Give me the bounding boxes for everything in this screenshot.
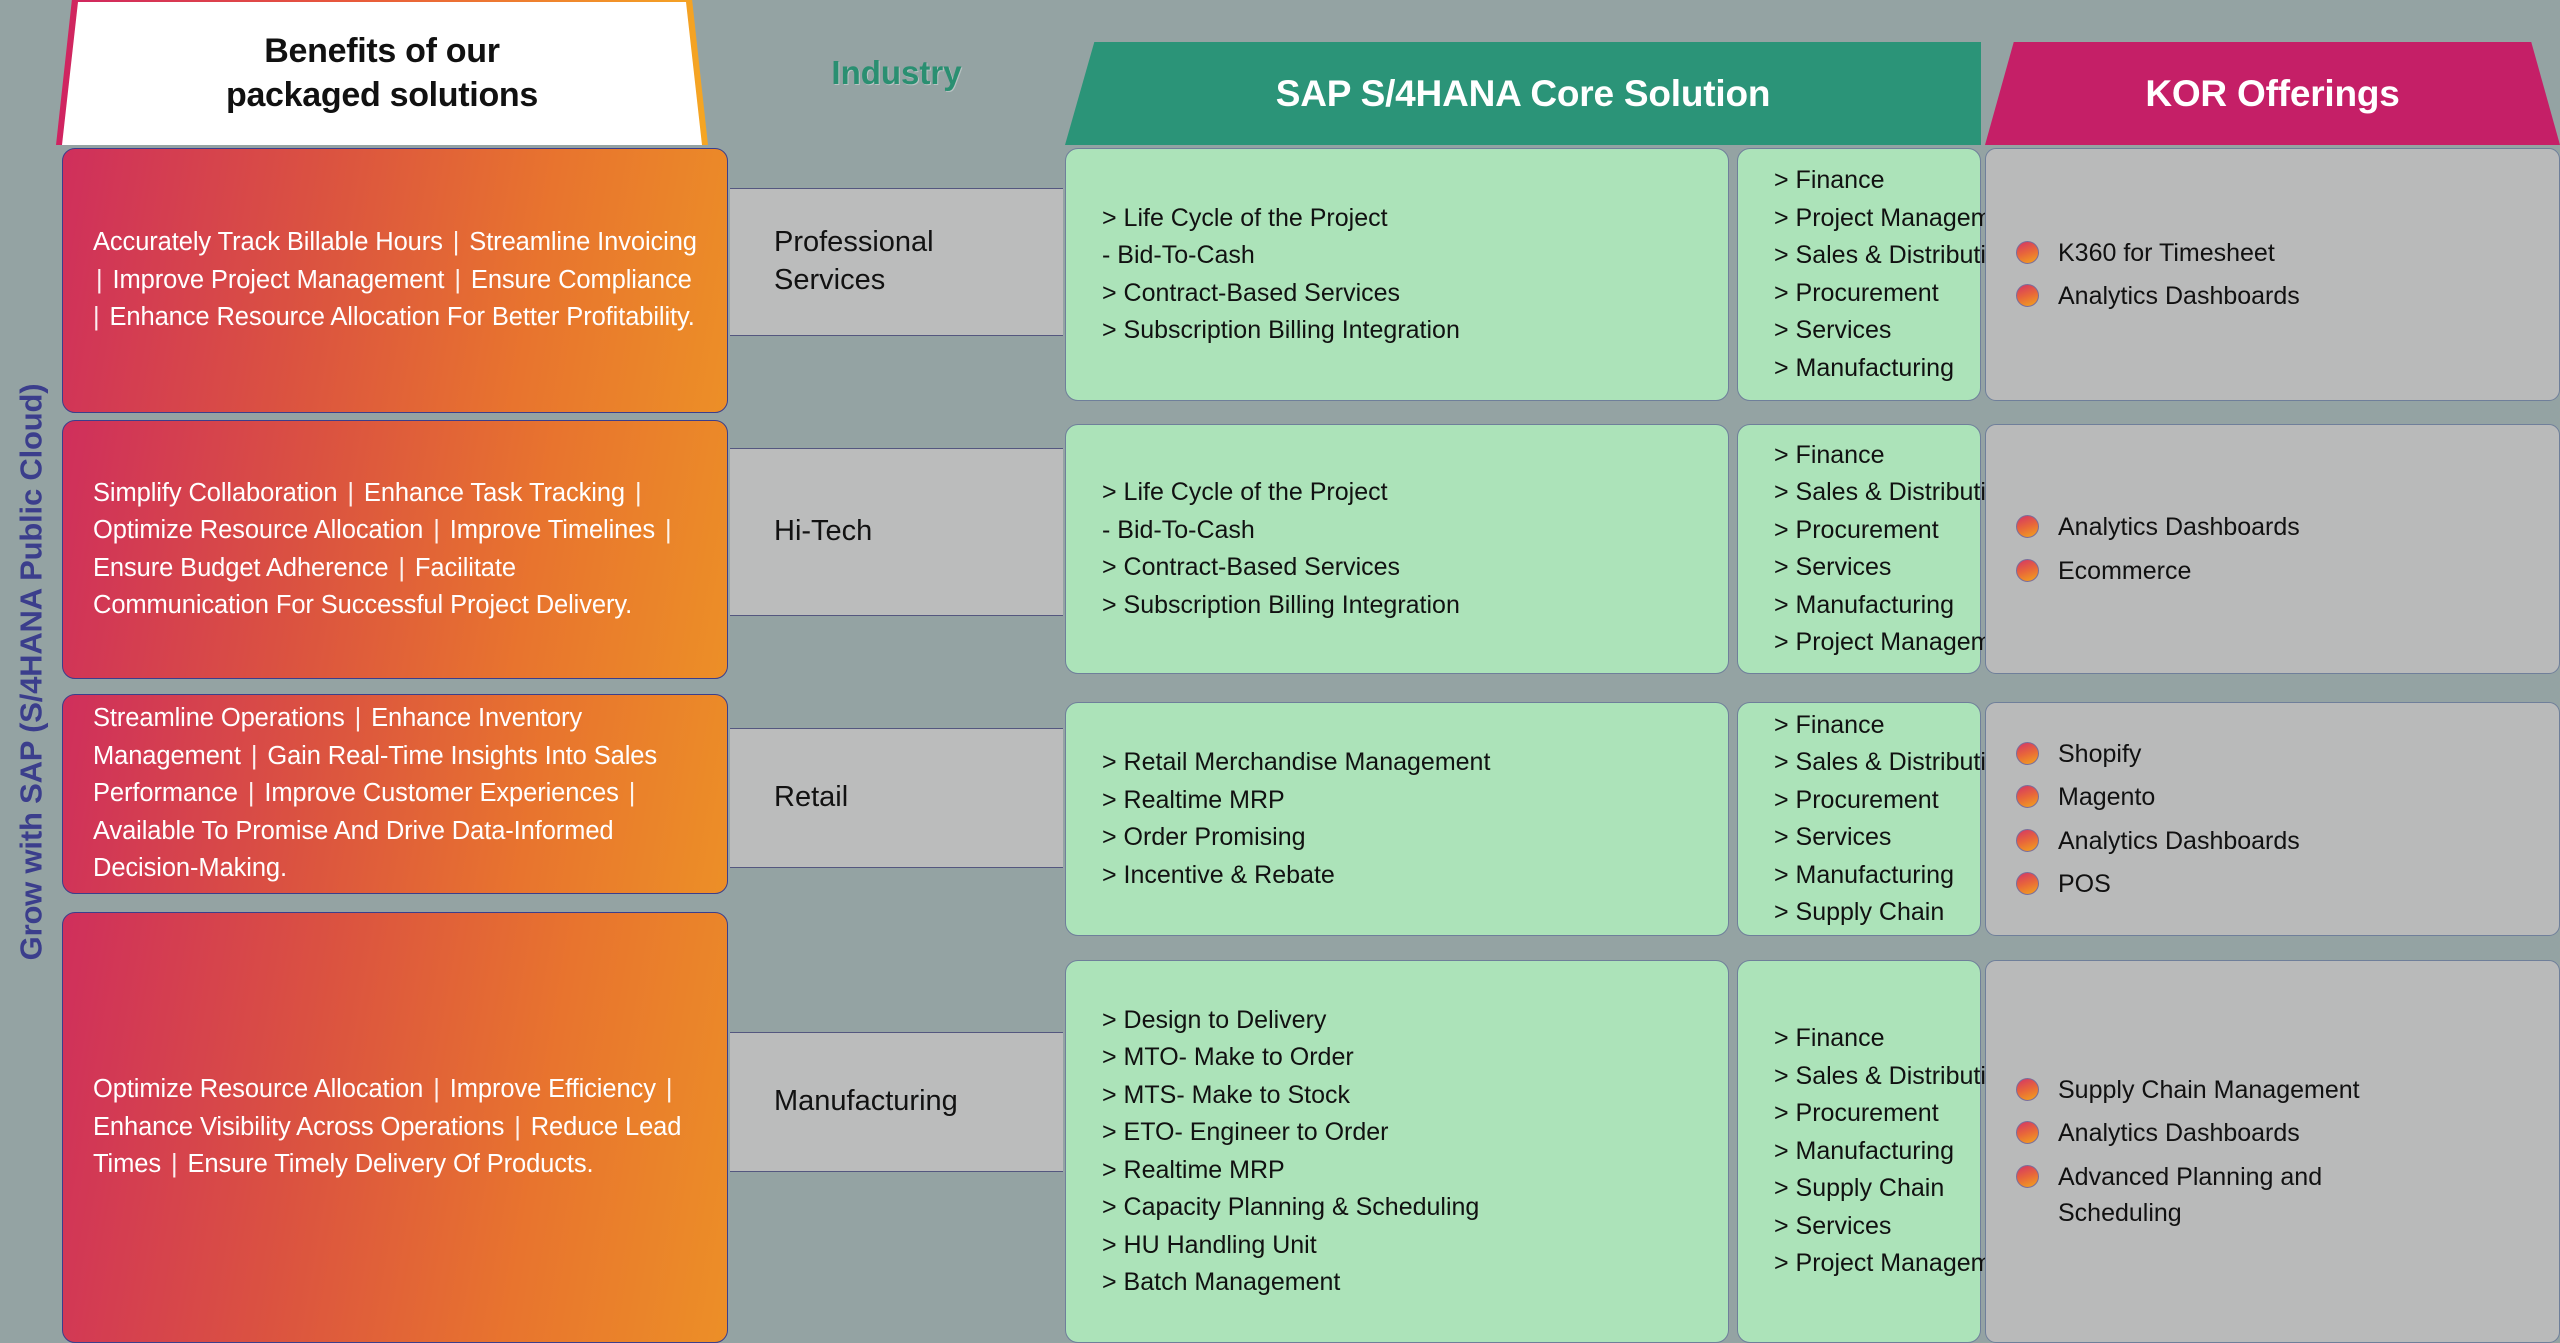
list-item: Analytics Dashboards — [2016, 278, 2300, 314]
benefit-text: Streamline Operations | Enhance Inventor… — [93, 700, 697, 887]
list-item: > Supply Chain — [1774, 894, 2014, 932]
list-item: > Finance — [1774, 707, 2014, 745]
bullet-dot-icon — [2016, 559, 2039, 582]
core-solution-list: > Retail Merchandise Management > Realti… — [1102, 744, 1490, 894]
industry-label: Retail — [774, 779, 848, 817]
list-item: > Batch Management — [1102, 1264, 1479, 1302]
list-item: > MTO- Make to Order — [1102, 1039, 1479, 1077]
kor-offering-list: Shopify Magento Analytics Dashboards POS — [2016, 729, 2300, 909]
list-item: Analytics Dashboards — [2016, 1115, 2436, 1151]
benefit-text: Simplify Collaboration | Enhance Task Tr… — [93, 475, 697, 625]
industry-label: Professional Services — [774, 224, 934, 299]
page-title-line2: packaged solutions — [226, 74, 538, 118]
list-item: > Retail Merchandise Management — [1102, 744, 1490, 782]
kor-offerings-column-header: KOR Offerings — [1985, 42, 2560, 145]
list-item: > Services — [1774, 819, 2014, 857]
list-item: > Realtime MRP — [1102, 1152, 1479, 1190]
page-title-line1: Benefits of our — [226, 30, 538, 74]
benefit-text: Accurately Track Billable Hours | Stream… — [93, 224, 697, 336]
kor-offering-list: Supply Chain Management Analytics Dashbo… — [2016, 1065, 2436, 1238]
list-item: > Subscription Billing Integration — [1102, 312, 1460, 350]
kor-offerings-header-label: KOR Offerings — [2145, 73, 2399, 115]
list-item: > HU Handling Unit — [1102, 1227, 1479, 1265]
kor-offerings-card: Supply Chain Management Analytics Dashbo… — [1985, 960, 2560, 1343]
list-item: > Realtime MRP — [1102, 782, 1490, 820]
core-solution-card-modules: > Finance > Sales & Distribution > Procu… — [1737, 702, 1981, 936]
kor-offering-list: K360 for Timesheet Analytics Dashboards — [2016, 228, 2300, 322]
core-solution-card-primary: > Life Cycle of the Project - Bid-To-Cas… — [1065, 424, 1729, 674]
bullet-dot-icon — [2016, 1078, 2039, 1101]
benefits-title-card: Benefits of our packaged solutions — [62, 2, 702, 145]
bullet-dot-icon — [2016, 1121, 2039, 1144]
list-item: > Sales & Distribution — [1774, 744, 2014, 782]
core-module-list: > Finance > Sales & Distribution > Procu… — [1774, 707, 2014, 932]
core-solution-list: > Life Cycle of the Project - Bid-To-Cas… — [1102, 474, 1460, 624]
core-solution-card-modules: > Finance > Project Management > Sales &… — [1737, 148, 1981, 401]
core-solution-list: > Life Cycle of the Project - Bid-To-Cas… — [1102, 200, 1460, 350]
matrix-board: Benefits of our packaged solutions Indus… — [62, 0, 2560, 1343]
benefit-card: Accurately Track Billable Hours | Stream… — [62, 148, 728, 413]
list-item: Analytics Dashboards — [2016, 823, 2300, 859]
list-item: > Subscription Billing Integration — [1102, 587, 1460, 625]
industry-header-label: Industry — [831, 54, 961, 92]
bullet-dot-icon — [2016, 785, 2039, 808]
benefit-card: Streamline Operations | Enhance Inventor… — [62, 694, 728, 894]
core-solution-list: > Design to Delivery > MTO- Make to Orde… — [1102, 1002, 1479, 1302]
list-item: Shopify — [2016, 736, 2300, 772]
page-title: Benefits of our packaged solutions — [226, 30, 538, 117]
benefit-card: Optimize Resource Allocation | Improve E… — [62, 912, 728, 1343]
industry-cell: Retail — [730, 728, 1063, 868]
core-solution-card-modules: > Finance > Sales & Distribution > Procu… — [1737, 960, 1981, 1343]
list-item: > MTS- Make to Stock — [1102, 1077, 1479, 1115]
list-item: - Bid-To-Cash — [1102, 512, 1460, 550]
list-item: > Contract-Based Services — [1102, 549, 1460, 587]
industry-cell: Hi-Tech — [730, 448, 1063, 616]
industry-column-header: Industry — [730, 0, 1063, 145]
list-item: > Life Cycle of the Project — [1102, 474, 1460, 512]
industry-cell: Manufacturing — [730, 1032, 1063, 1172]
vertical-side-label: Grow with SAP (S/4HANA Public Cloud) — [0, 0, 62, 1343]
list-item: > ETO- Engineer to Order — [1102, 1114, 1479, 1152]
list-item: > Capacity Planning & Scheduling — [1102, 1189, 1479, 1227]
industry-label: Manufacturing — [774, 1083, 958, 1121]
bullet-dot-icon — [2016, 241, 2039, 264]
industry-cell: Professional Services — [730, 188, 1063, 336]
benefit-card: Simplify Collaboration | Enhance Task Tr… — [62, 420, 728, 679]
core-solution-card-primary: > Life Cycle of the Project - Bid-To-Cas… — [1065, 148, 1729, 401]
list-item: > Order Promising — [1102, 819, 1490, 857]
list-item: Magento — [2016, 779, 2300, 815]
list-item: Ecommerce — [2016, 553, 2300, 589]
bullet-dot-icon — [2016, 872, 2039, 895]
core-solution-card-modules: > Finance > Sales & Distribution > Procu… — [1737, 424, 1981, 674]
bullet-dot-icon — [2016, 515, 2039, 538]
list-item: > Design to Delivery — [1102, 1002, 1479, 1040]
bullet-dot-icon — [2016, 1165, 2039, 1188]
list-item: > Life Cycle of the Project — [1102, 200, 1460, 238]
side-label-text: Grow with SAP (S/4HANA Public Cloud) — [13, 383, 49, 960]
list-item: K360 for Timesheet — [2016, 235, 2300, 271]
bullet-dot-icon — [2016, 284, 2039, 307]
list-item: - Bid-To-Cash — [1102, 237, 1460, 275]
kor-offerings-card: K360 for Timesheet Analytics Dashboards — [1985, 148, 2560, 401]
list-item: Supply Chain Management — [2016, 1072, 2436, 1108]
bullet-dot-icon — [2016, 829, 2039, 852]
list-item: > Procurement — [1774, 782, 2014, 820]
core-solution-column-header: SAP S/4HANA Core Solution — [1065, 42, 1981, 145]
list-item: > Incentive & Rebate — [1102, 857, 1490, 895]
core-solution-header-label: SAP S/4HANA Core Solution — [1276, 73, 1771, 115]
list-item: Analytics Dashboards — [2016, 509, 2300, 545]
kor-offerings-card: Analytics Dashboards Ecommerce — [1985, 424, 2560, 674]
benefit-text: Optimize Resource Allocation | Improve E… — [93, 1071, 697, 1183]
bullet-dot-icon — [2016, 742, 2039, 765]
list-item: POS — [2016, 866, 2300, 902]
list-item: Advanced Planning and Scheduling — [2016, 1159, 2436, 1232]
list-item: > Manufacturing — [1774, 857, 2014, 895]
industry-label: Hi-Tech — [774, 513, 872, 551]
core-solution-card-primary: > Design to Delivery > MTO- Make to Orde… — [1065, 960, 1729, 1343]
kor-offering-list: Analytics Dashboards Ecommerce — [2016, 502, 2300, 596]
list-item: > Contract-Based Services — [1102, 275, 1460, 313]
kor-offerings-card: Shopify Magento Analytics Dashboards POS — [1985, 702, 2560, 936]
core-solution-card-primary: > Retail Merchandise Management > Realti… — [1065, 702, 1729, 936]
